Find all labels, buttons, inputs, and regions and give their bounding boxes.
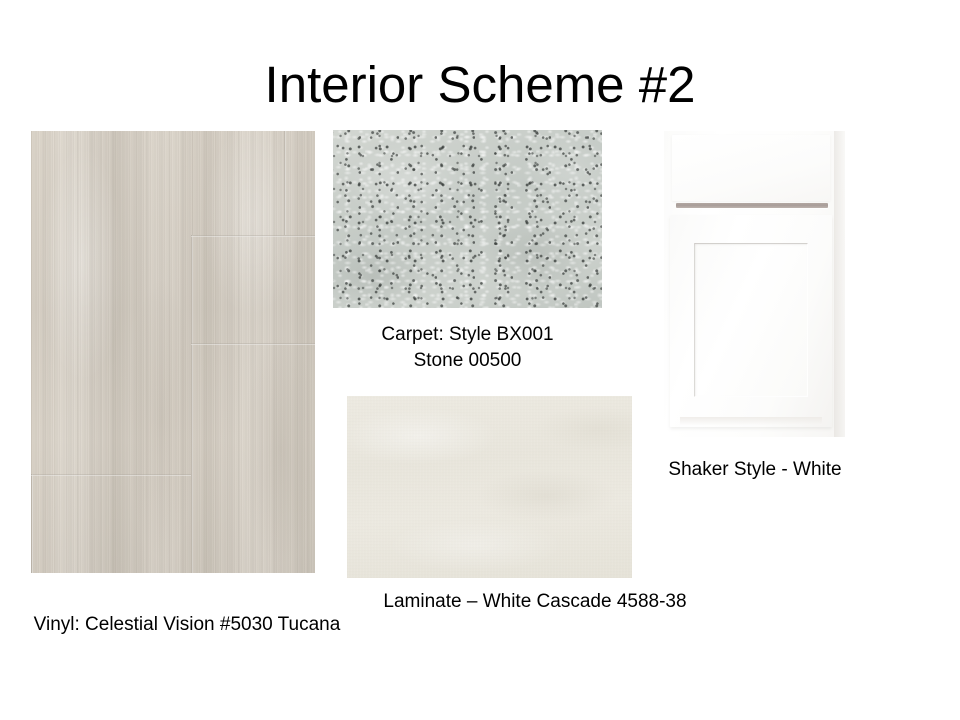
page-title: Interior Scheme #2 <box>0 56 960 115</box>
vinyl-grain-texture-coarse <box>31 131 315 573</box>
vinyl-plank-seam <box>31 474 191 476</box>
cabinet-shaker-door <box>670 215 832 427</box>
cabinet-side-edge <box>834 131 845 437</box>
vinyl-plank-seam <box>191 235 193 573</box>
carpet-fleck-texture <box>333 130 602 308</box>
laminate-swatch <box>347 396 632 578</box>
interior-scheme-board: Interior Scheme #2 Carpet: Style BX001 S… <box>0 0 960 720</box>
laminate-weave-texture <box>347 396 632 578</box>
cabinet-recessed-panel <box>694 243 808 397</box>
vinyl-plank-seam <box>191 235 315 237</box>
vinyl-plank-seam <box>191 343 315 345</box>
cabinet-door-swatch <box>664 131 845 437</box>
vinyl-caption: Vinyl: Celestial Vision #5030 Tucana <box>0 612 374 638</box>
carpet-swatch <box>333 130 602 308</box>
vinyl-plank-swatch <box>31 131 315 573</box>
cabinet-bottom-rail <box>680 417 822 425</box>
cabinet-reveal-line <box>676 203 828 208</box>
cabinet-drawer-front <box>672 135 830 201</box>
carpet-caption: Carpet: Style BX001 Stone 00500 <box>333 322 602 374</box>
cabinet-panel-bevel <box>694 243 808 397</box>
vinyl-plank-seam <box>284 131 286 235</box>
vinyl-plank-seam <box>31 474 33 573</box>
cabinet-caption: Shaker Style - White <box>600 457 910 483</box>
